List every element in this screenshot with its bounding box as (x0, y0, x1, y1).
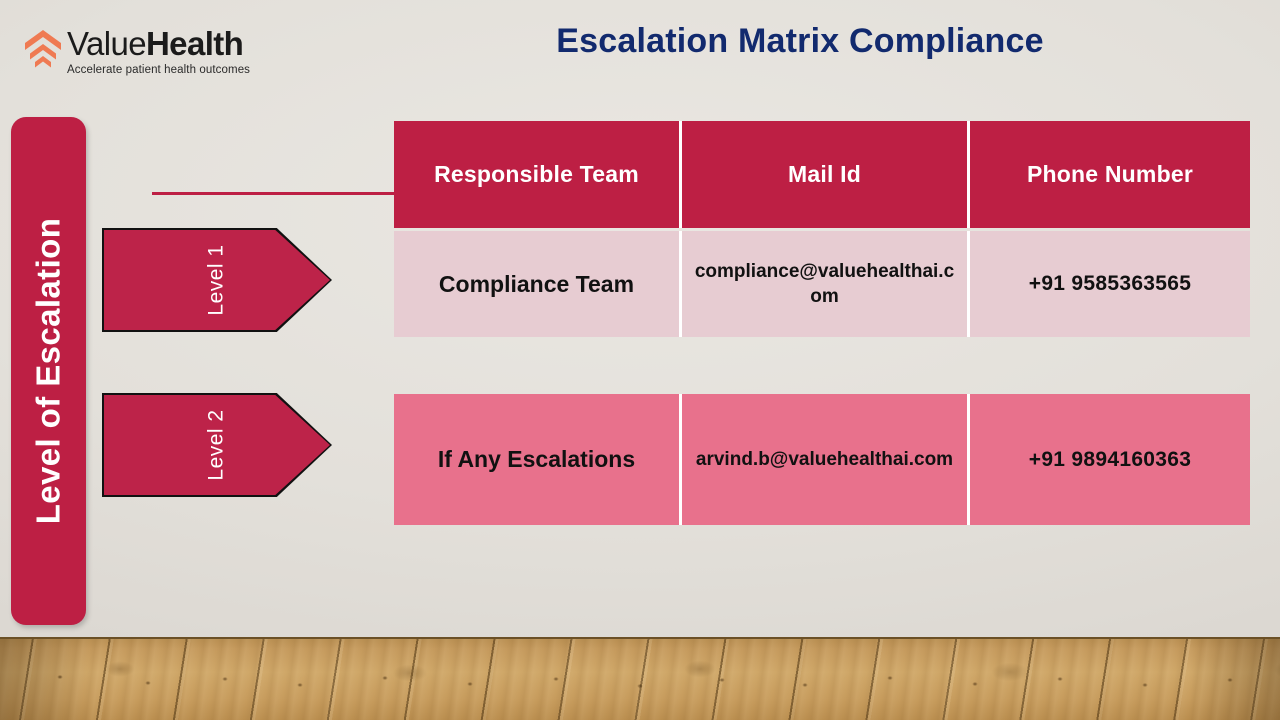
chevron-stack-icon (24, 29, 62, 69)
escalation-matrix-table: Responsible Team Mail Id Phone Number Co… (394, 121, 1250, 525)
table-row: If Any Escalations arvind.b@valuehealtha… (394, 394, 1250, 525)
logo-wordmark-group: ValueHealth Accelerate patient health ou… (67, 26, 250, 77)
floor-edge-shading (0, 639, 1280, 720)
cell-team-1: Compliance Team (394, 231, 682, 337)
table-row: Compliance Team compliance@valuehealthai… (394, 231, 1250, 337)
level-2-label: Level 2 (205, 409, 229, 480)
level-of-escalation-bar: Level of Escalation (11, 117, 86, 625)
logo-tagline: Accelerate patient health outcomes (67, 63, 250, 77)
cell-phone-1: +91 9585363565 (970, 231, 1250, 337)
brand-logo: ValueHealth Accelerate patient health ou… (24, 26, 250, 77)
slide-canvas: ValueHealth Accelerate patient health ou… (0, 0, 1280, 720)
level-1-label-wrap: Level 1 (102, 228, 332, 332)
page-title: Escalation Matrix Compliance (360, 22, 1240, 61)
level-2-label-wrap: Level 2 (102, 393, 332, 497)
logo-word-value: Value (67, 25, 146, 62)
logo-wordmark: ValueHealth (67, 26, 250, 62)
wooden-floor-strip (0, 637, 1280, 720)
cell-phone-2: +91 9894160363 (970, 394, 1250, 525)
cell-mail-1[interactable]: compliance@valuehealthai.com (682, 231, 970, 337)
cell-mail-2[interactable]: arvind.b@valuehealthai.com (682, 394, 970, 525)
level-of-escalation-label: Level of Escalation (30, 218, 68, 525)
level-2-arrow[interactable]: Level 2 (102, 393, 332, 497)
level-1-arrow[interactable]: Level 1 (102, 228, 332, 332)
table-header-row: Responsible Team Mail Id Phone Number (394, 121, 1250, 228)
connector-line (152, 192, 395, 195)
table-header-mail-id: Mail Id (682, 121, 970, 228)
level-1-label: Level 1 (205, 244, 229, 315)
table-header-responsible-team: Responsible Team (394, 121, 682, 228)
logo-word-health: Health (146, 25, 243, 62)
table-header-phone-number: Phone Number (970, 121, 1250, 228)
cell-team-2: If Any Escalations (394, 394, 682, 525)
